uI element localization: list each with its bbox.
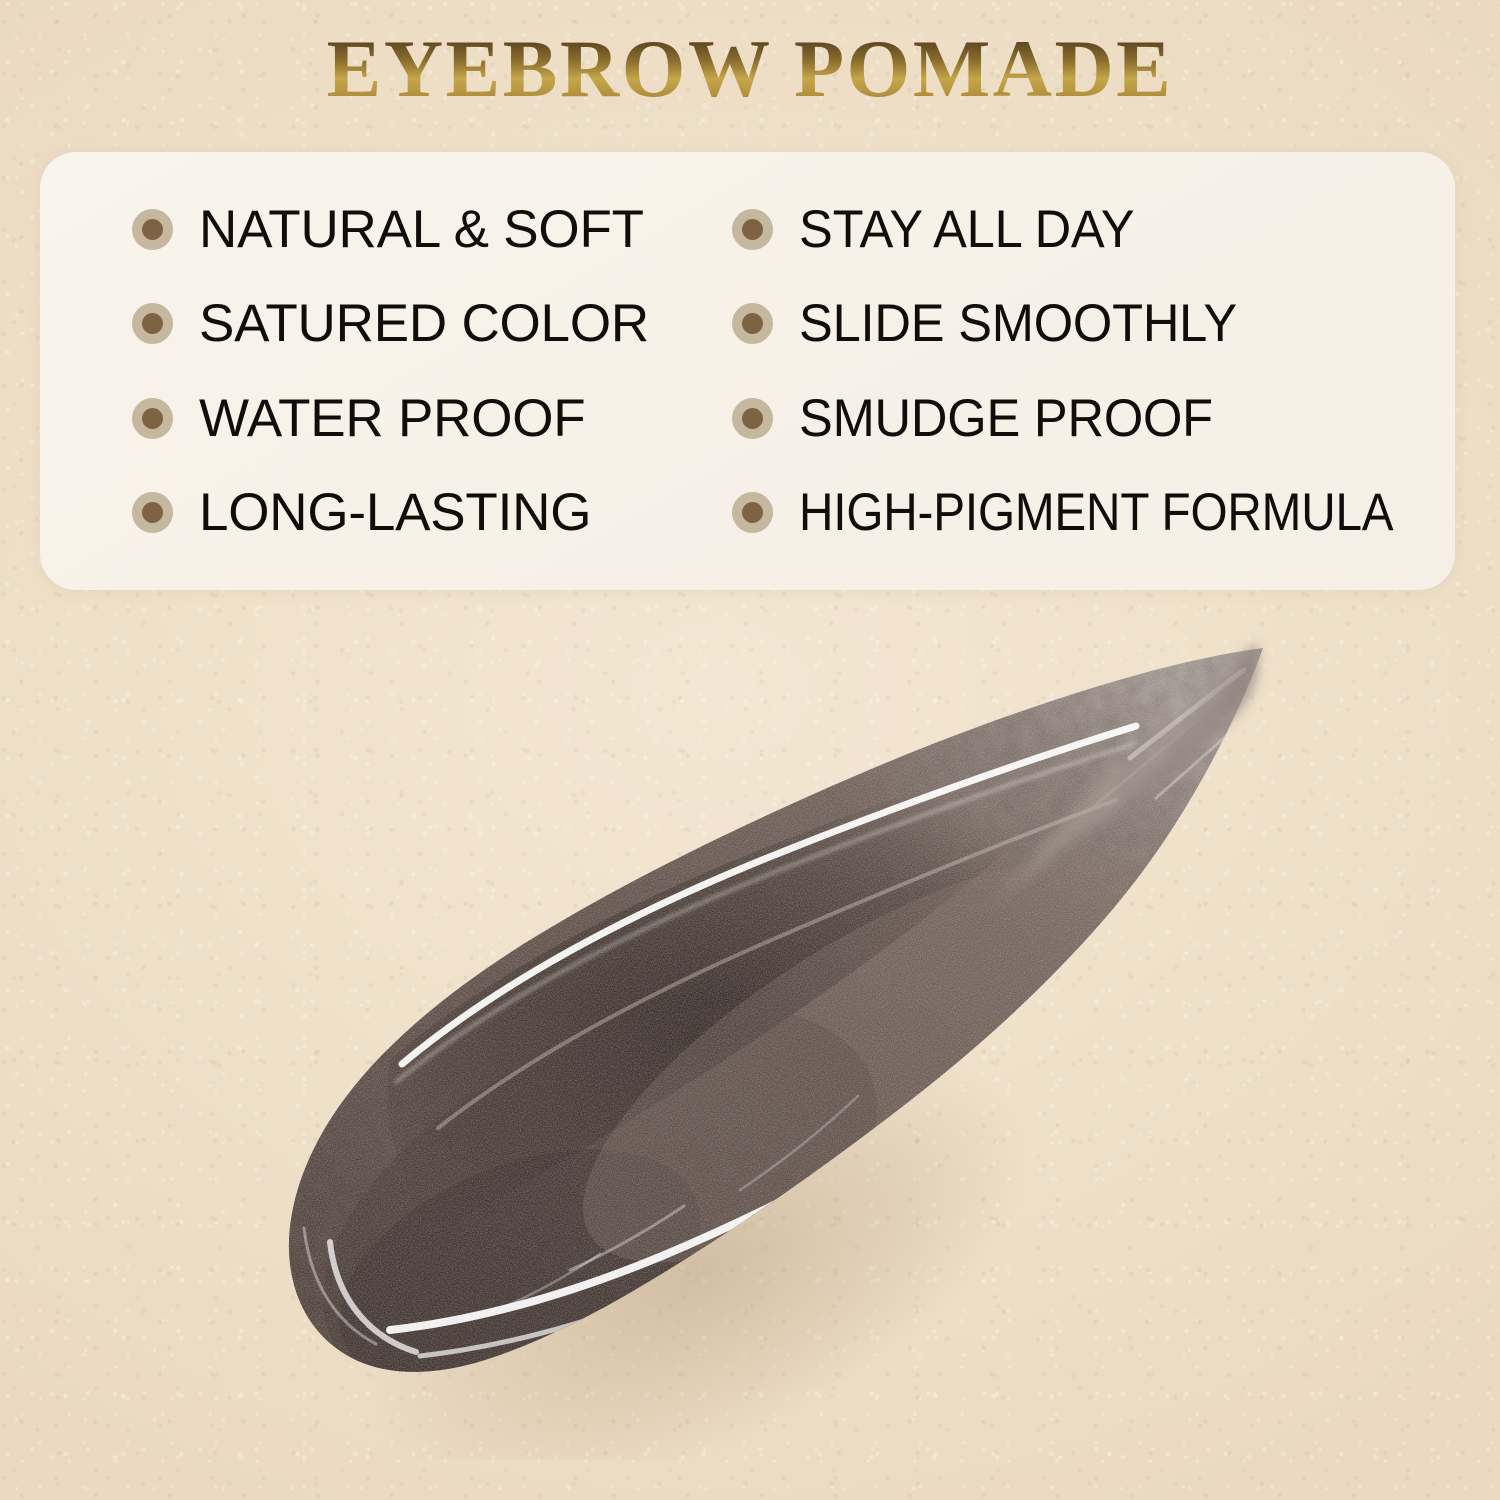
feature-label: NATURAL & SOFT [199,202,644,257]
bullet-dot-icon [132,303,173,344]
feature-item-smudge-proof: SMUDGE PROOF [732,371,1460,466]
bullet-dot-icon [132,492,173,533]
feature-item-high-pigment-formula: HIGH-PIGMENT FORMULA [732,466,1460,561]
feature-label: STAY ALL DAY [799,202,1134,257]
feature-label: SMUDGE PROOF [799,391,1213,446]
bullet-dot-icon [732,492,773,533]
pomade-smear-swatch [270,630,1310,1460]
feature-item-natural-and-soft: NATURAL & SOFT [132,182,732,277]
feature-label: HIGH-PIGMENT FORMULA [799,485,1393,540]
feature-item-satured-color: SATURED COLOR [132,277,732,372]
feature-item-stay-all-day: STAY ALL DAY [732,182,1460,277]
page-title: EYEBROW POMADE [0,28,1500,110]
feature-item-water-proof: WATER PROOF [132,371,732,466]
feature-item-long-lasting: LONG-LASTING [132,466,732,561]
bullet-dot-icon [132,209,173,250]
feature-label: WATER PROOF [199,391,585,446]
feature-card: NATURAL & SOFT STAY ALL DAY SATURED COLO… [40,152,1455,590]
feature-item-slide-smoothly: SLIDE SMOOTHLY [732,277,1460,372]
bullet-dot-icon [132,398,173,439]
feature-label: LONG-LASTING [199,485,591,540]
feature-label: SLIDE SMOOTHLY [799,296,1237,351]
feature-label: SATURED COLOR [199,296,649,351]
bullet-dot-icon [732,303,773,344]
bullet-dot-icon [732,209,773,250]
bullet-dot-icon [732,398,773,439]
